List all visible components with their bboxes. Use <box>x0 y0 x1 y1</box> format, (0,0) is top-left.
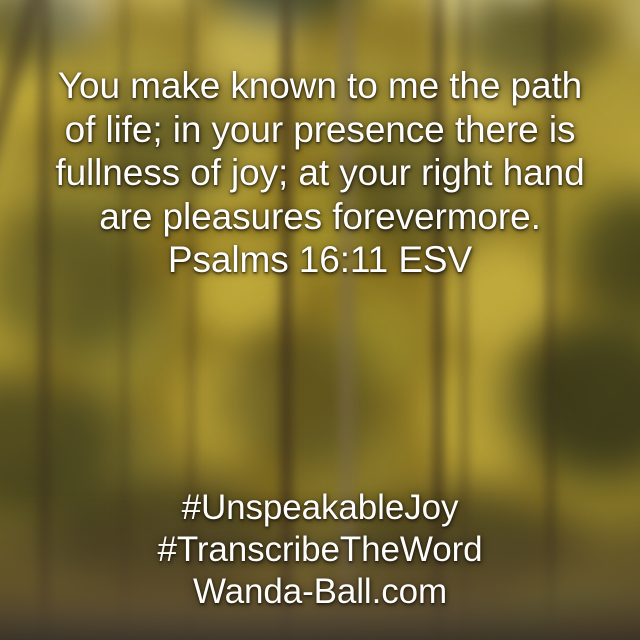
website-url: Wanda-Ball.com <box>0 571 640 613</box>
verse-line-3: fullness of joy; at your right hand <box>0 151 640 195</box>
verse-line-4: are pleasures forevermore. <box>0 195 640 239</box>
verse-line-1: You make known to me the path <box>0 64 640 108</box>
footer-text-block: #UnspeakableJoy #TranscribeTheWord Wanda… <box>0 487 640 613</box>
scripture-image: You make known to me the path of life; i… <box>0 0 640 640</box>
hashtag-unspeakable-joy: #UnspeakableJoy <box>0 487 640 529</box>
verse-reference: Psalms 16:11 ESV <box>0 238 640 282</box>
hashtag-transcribe-the-word: #TranscribeTheWord <box>0 529 640 571</box>
verse-line-2: of life; in your presence there is <box>0 108 640 152</box>
verse-text-block: You make known to me the path of life; i… <box>0 64 640 282</box>
